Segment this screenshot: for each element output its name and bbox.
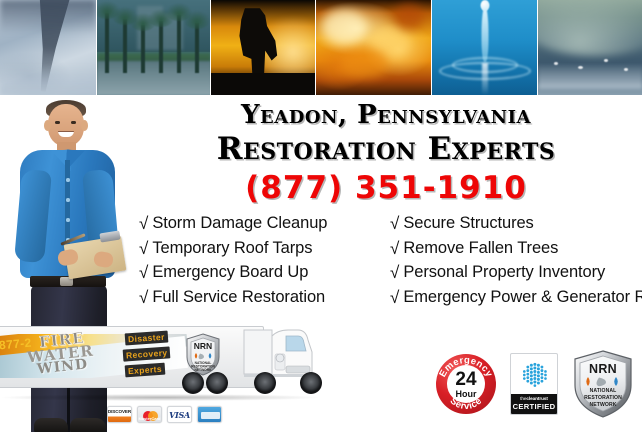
palm-tree-shape: [159, 21, 163, 73]
list-item-label-wrap: Emergency Power & Generator Rental: [403, 287, 642, 309]
headline-block: Yeadon, Pennsylvania Restoration Experts…: [130, 100, 642, 206]
person-shoe-shape: [34, 418, 68, 432]
person-ear-shape: [44, 120, 51, 131]
palm-tree-shape: [105, 13, 109, 73]
visa-label: VISA: [169, 410, 190, 420]
flame-blob-shape: [340, 48, 388, 78]
truck-wheel-shape: [206, 372, 228, 394]
palm-tree-shape: [141, 25, 145, 73]
page-title-tagline: Restoration Experts: [130, 132, 642, 167]
discover-card-logo: DISCOVER: [107, 406, 132, 423]
list-item-label: Emergency Board Up: [152, 262, 308, 284]
nrn-network-badge: NRN NATIONAL RESTORATION NETWORK: [572, 349, 634, 419]
flame-blob-shape: [322, 10, 366, 44]
wave-sparkle-shape: [604, 59, 608, 62]
person-head-shape: [48, 104, 84, 146]
storm-road-shape: [97, 61, 210, 95]
water-bead-shape: [480, 0, 489, 11]
svg-text:NRN: NRN: [194, 341, 212, 351]
mastercard-logo: MasterCard: [137, 406, 162, 423]
wave-sparkle-shape: [554, 62, 558, 65]
visa-logo: VISA: [167, 406, 192, 423]
list-item: √ Remove Fallen Trees: [390, 238, 642, 260]
list-item: √ Temporary Roof Tarps: [139, 238, 389, 260]
palm-tree-shape: [123, 19, 127, 73]
nrn-title-label: NRN: [572, 362, 634, 376]
list-item: √ Storm Damage Cleanup: [139, 213, 389, 235]
check-icon: √: [139, 262, 148, 284]
check-icon: √: [390, 238, 399, 260]
wave-sparkle-shape: [578, 66, 583, 69]
truck-phone-partial: 877-2: [0, 336, 32, 353]
person-eye-shape: [71, 121, 76, 124]
cleantrust-certified-badge: thecleantrust CERTIFIED: [510, 353, 558, 415]
globe-icon: [517, 360, 551, 390]
nrn-line1-label: NATIONAL: [572, 388, 634, 394]
emergency-24hour-badge: Emergency Service 24 Hour: [436, 354, 496, 414]
list-item: √ Secure Structures: [390, 213, 642, 235]
shirt-button-shape: [66, 218, 70, 222]
truck-shadow-shape: [2, 394, 318, 401]
badge-hours-number: 24: [455, 370, 476, 389]
discover-label: DISCOVER: [108, 409, 131, 414]
cleantrust-name: cleantrust: [526, 396, 547, 401]
page-title-city: Yeadon, Pennsylvania: [130, 100, 642, 130]
water-column-shape: [481, 6, 488, 62]
list-item: √ Emergency Power & Generator Rental: [390, 287, 642, 309]
firefighter-photo: [210, 0, 315, 95]
shirt-button-shape: [66, 178, 70, 182]
water-drop-photo: [431, 0, 537, 95]
check-icon: √: [139, 213, 148, 235]
phone-number[interactable]: (877) 351-1910: [130, 170, 642, 206]
check-icon: √: [139, 238, 148, 260]
wave-crest-shape: [537, 0, 642, 56]
nrn-line2-label: RESTORATION: [572, 395, 634, 401]
nrn-line3-label: NETWORK: [572, 402, 634, 408]
hero-image-strip: [0, 0, 642, 95]
cleantrust-certified-label: CERTIFIED: [511, 402, 557, 411]
truck-wheel-shape: [254, 372, 276, 394]
cleantrust-footer: thecleantrust CERTIFIED: [511, 394, 557, 414]
person-eye-shape: [55, 121, 60, 124]
person-shoe-shape: [70, 418, 106, 432]
amex-band-shape: [201, 412, 220, 419]
list-item-label-continued: Generator Rental: [557, 288, 642, 306]
check-icon: √: [139, 287, 148, 309]
restoration-ad-page: Yeadon, Pennsylvania Restoration Experts…: [0, 0, 642, 432]
wind-icon: [597, 378, 607, 387]
check-icon: √: [390, 213, 399, 235]
list-item-label: Emergency Power &: [403, 288, 552, 306]
water-reflection-shape: [482, 63, 488, 95]
tornado-haze-shape: [0, 65, 96, 95]
accepted-cards-row: DISCOVER MasterCard VISA: [107, 406, 222, 423]
fire-icon: [586, 377, 589, 386]
amex-logo: [197, 406, 222, 423]
mastercard-label: MasterCard: [138, 416, 161, 421]
list-item-label: Secure Structures: [403, 213, 533, 235]
water-icon: [614, 377, 618, 386]
palm-tree-shape: [177, 15, 181, 73]
badge-inner-disc: 24 Hour: [447, 365, 485, 403]
list-item-label: Storm Damage Cleanup: [152, 213, 327, 235]
list-item-label: Personal Property Inventory: [403, 262, 605, 284]
palm-tree-shape: [195, 23, 199, 73]
services-list-right: √ Secure Structures √ Remove Fallen Tree…: [390, 213, 642, 311]
list-item: √ Full Service Restoration: [139, 287, 389, 309]
services-list-left: √ Storm Damage Cleanup √ Temporary Roof …: [139, 213, 389, 311]
semi-truck-photo: FIRE WATER WIND Disaster Recovery Expert…: [0, 320, 344, 420]
person-ear-shape: [81, 120, 88, 131]
list-item-label: Full Service Restoration: [152, 287, 325, 309]
wave-foam-shape: [538, 63, 642, 89]
list-item-label: Remove Fallen Trees: [403, 238, 558, 260]
list-item: √ Emergency Board Up: [139, 262, 389, 284]
svg-text:NETWORK: NETWORK: [194, 368, 212, 372]
truck-nrn-shield-icon: NRN NATIONAL RESTORATION NETWORK: [185, 333, 221, 376]
list-item-label: Temporary Roof Tarps: [152, 238, 312, 260]
badge-hours-unit: Hour: [456, 390, 477, 399]
cleantrust-brand-label: thecleantrust: [511, 396, 557, 401]
trust-badges-row: Emergency Service 24 Hour: [436, 349, 634, 419]
flame-blob-shape: [394, 4, 424, 30]
ocean-wave-photo: [537, 0, 642, 95]
truck-wheel-shape: [300, 372, 322, 394]
shirt-button-shape: [66, 198, 70, 202]
check-icon: √: [390, 262, 399, 284]
tornado-photo: [0, 0, 96, 95]
fire-ground-shape: [211, 73, 315, 95]
wave-sparkle-shape: [624, 68, 628, 71]
flames-photo: [315, 0, 431, 95]
list-item: √ Personal Property Inventory: [390, 262, 642, 284]
truck-wheel-shape: [182, 372, 204, 394]
check-icon: √: [390, 287, 399, 309]
storm-street-photo: [96, 0, 210, 95]
